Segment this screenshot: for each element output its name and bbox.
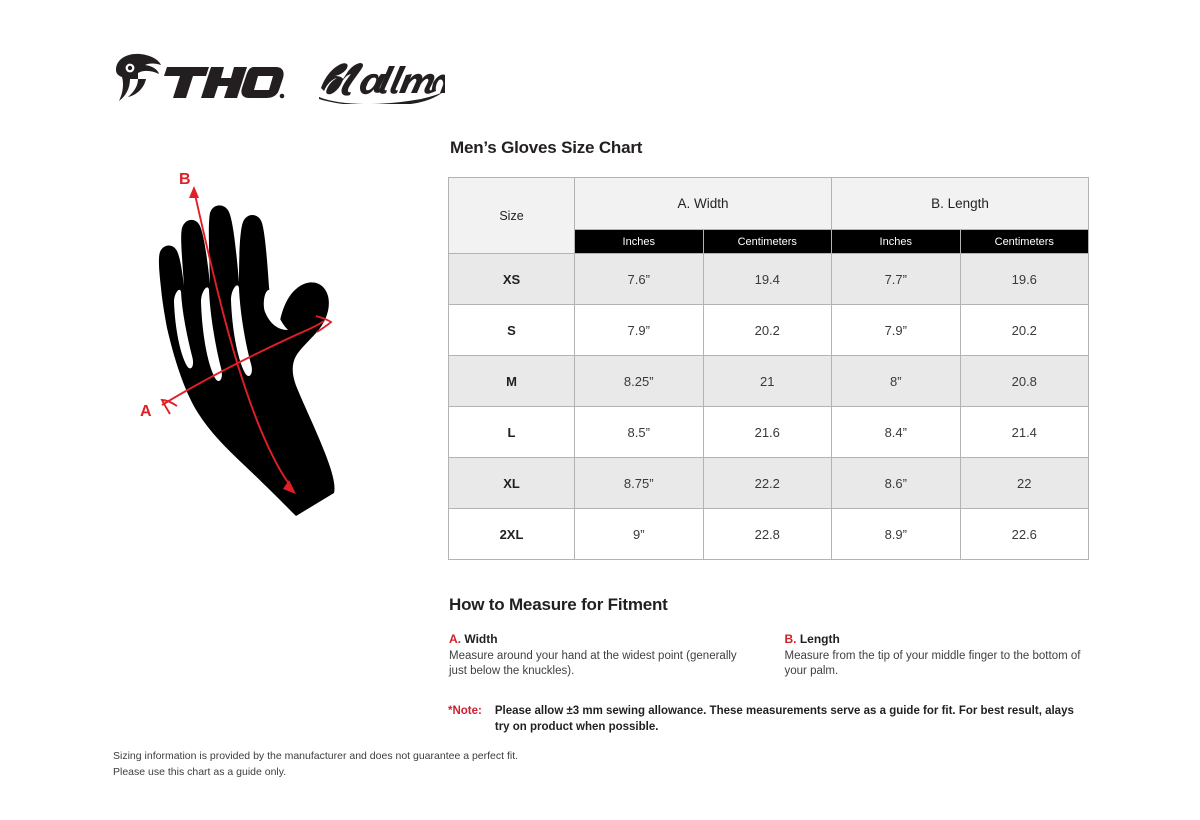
- table-head: Size A. Width B. Length Inches Centimete…: [449, 178, 1089, 254]
- table-body: XS 7.6” 19.4 7.7” 19.6 S 7.9” 20.2 7.9” …: [449, 254, 1089, 560]
- measure-name-length: Length: [800, 632, 840, 646]
- header-length-inches: Inches: [832, 230, 961, 254]
- note-section: *Note: Please allow ±3 mm sewing allowan…: [448, 704, 1088, 735]
- how-to-measure-section: How to Measure for Fitment A. Width Meas…: [449, 595, 1088, 679]
- table-row: S 7.9” 20.2 7.9” 20.2: [449, 305, 1089, 356]
- arrowhead-a-left: [162, 400, 177, 414]
- cell-size: L: [449, 407, 575, 458]
- cell-width-cm: 21: [703, 356, 832, 407]
- cell-length-cm: 20.8: [960, 356, 1089, 407]
- page-title: Men’s Gloves Size Chart: [450, 138, 1088, 158]
- header-width-centimeters: Centimeters: [703, 230, 832, 254]
- header-size: Size: [449, 178, 575, 254]
- how-to-measure-title: How to Measure for Fitment: [449, 595, 1088, 615]
- brand-logo-bar: [113, 48, 513, 110]
- header-group-width: A. Width: [575, 178, 832, 230]
- measure-name-width: Width: [464, 632, 497, 646]
- measure-description-length: Measure from the tip of your middle fing…: [785, 649, 1089, 679]
- measure-letter-a: A.: [449, 632, 461, 646]
- cell-length-cm: 21.4: [960, 407, 1089, 458]
- measure-letter-b: B.: [785, 632, 797, 646]
- cell-width-cm: 22.2: [703, 458, 832, 509]
- cell-width-in: 7.6”: [575, 254, 704, 305]
- hallman-logo: [313, 54, 445, 104]
- size-chart-table: Size A. Width B. Length Inches Centimete…: [448, 177, 1089, 560]
- cell-length-cm: 22.6: [960, 509, 1089, 560]
- table-row: 2XL 9” 22.8 8.9” 22.6: [449, 509, 1089, 560]
- cell-length-in: 8.9”: [832, 509, 961, 560]
- measure-item-heading: B. Length: [785, 632, 1089, 646]
- marker-label-a: A: [140, 403, 152, 420]
- cell-length-in: 8”: [832, 356, 961, 407]
- cell-width-cm: 19.4: [703, 254, 832, 305]
- note-text: Please allow ±3 mm sewing allowance. The…: [495, 704, 1087, 735]
- cell-length-cm: 20.2: [960, 305, 1089, 356]
- cell-width-in: 8.5”: [575, 407, 704, 458]
- cell-size: M: [449, 356, 575, 407]
- cell-size: XS: [449, 254, 575, 305]
- footer-line-2: Please use this chart as a guide only.: [113, 764, 733, 780]
- table-row: L 8.5” 21.6 8.4” 21.4: [449, 407, 1089, 458]
- cell-length-in: 7.9”: [832, 305, 961, 356]
- cell-width-cm: 21.6: [703, 407, 832, 458]
- size-chart-panel: Men’s Gloves Size Chart Size A. Width B.…: [448, 138, 1088, 735]
- cell-length-in: 8.6”: [832, 458, 961, 509]
- cell-size: S: [449, 305, 575, 356]
- table-row: XS 7.6” 19.4 7.7” 19.6: [449, 254, 1089, 305]
- cell-length-cm: 19.6: [960, 254, 1089, 305]
- measure-item-heading: A. Width: [449, 632, 757, 646]
- measure-description-width: Measure around your hand at the widest p…: [449, 649, 757, 679]
- cell-length-in: 7.7”: [832, 254, 961, 305]
- table-row: M 8.25” 21 8” 20.8: [449, 356, 1089, 407]
- cell-width-cm: 22.8: [703, 509, 832, 560]
- marker-label-b: B: [179, 171, 191, 188]
- cell-size: XL: [449, 458, 575, 509]
- measure-item-length: B. Length Measure from the tip of your m…: [785, 632, 1089, 679]
- header-row-groups: Size A. Width B. Length: [449, 178, 1089, 230]
- header-length-centimeters: Centimeters: [960, 230, 1089, 254]
- hand-measurement-diagram: B A: [120, 160, 430, 550]
- measure-item-width: A. Width Measure around your hand at the…: [449, 632, 785, 679]
- cell-width-in: 8.25”: [575, 356, 704, 407]
- cell-width-in: 8.75”: [575, 458, 704, 509]
- cell-length-in: 8.4”: [832, 407, 961, 458]
- cell-width-cm: 20.2: [703, 305, 832, 356]
- cell-size: 2XL: [449, 509, 575, 560]
- header-group-length: B. Length: [832, 178, 1089, 230]
- note-label: *Note:: [448, 704, 495, 735]
- header-width-inches: Inches: [575, 230, 704, 254]
- cell-width-in: 7.9”: [575, 305, 704, 356]
- cell-width-in: 9”: [575, 509, 704, 560]
- footer-disclaimer: Sizing information is provided by the ma…: [113, 748, 733, 780]
- footer-line-1: Sizing information is provided by the ma…: [113, 748, 733, 764]
- table-row: XL 8.75” 22.2 8.6” 22: [449, 458, 1089, 509]
- thor-logo: [113, 53, 285, 105]
- cell-length-cm: 22: [960, 458, 1089, 509]
